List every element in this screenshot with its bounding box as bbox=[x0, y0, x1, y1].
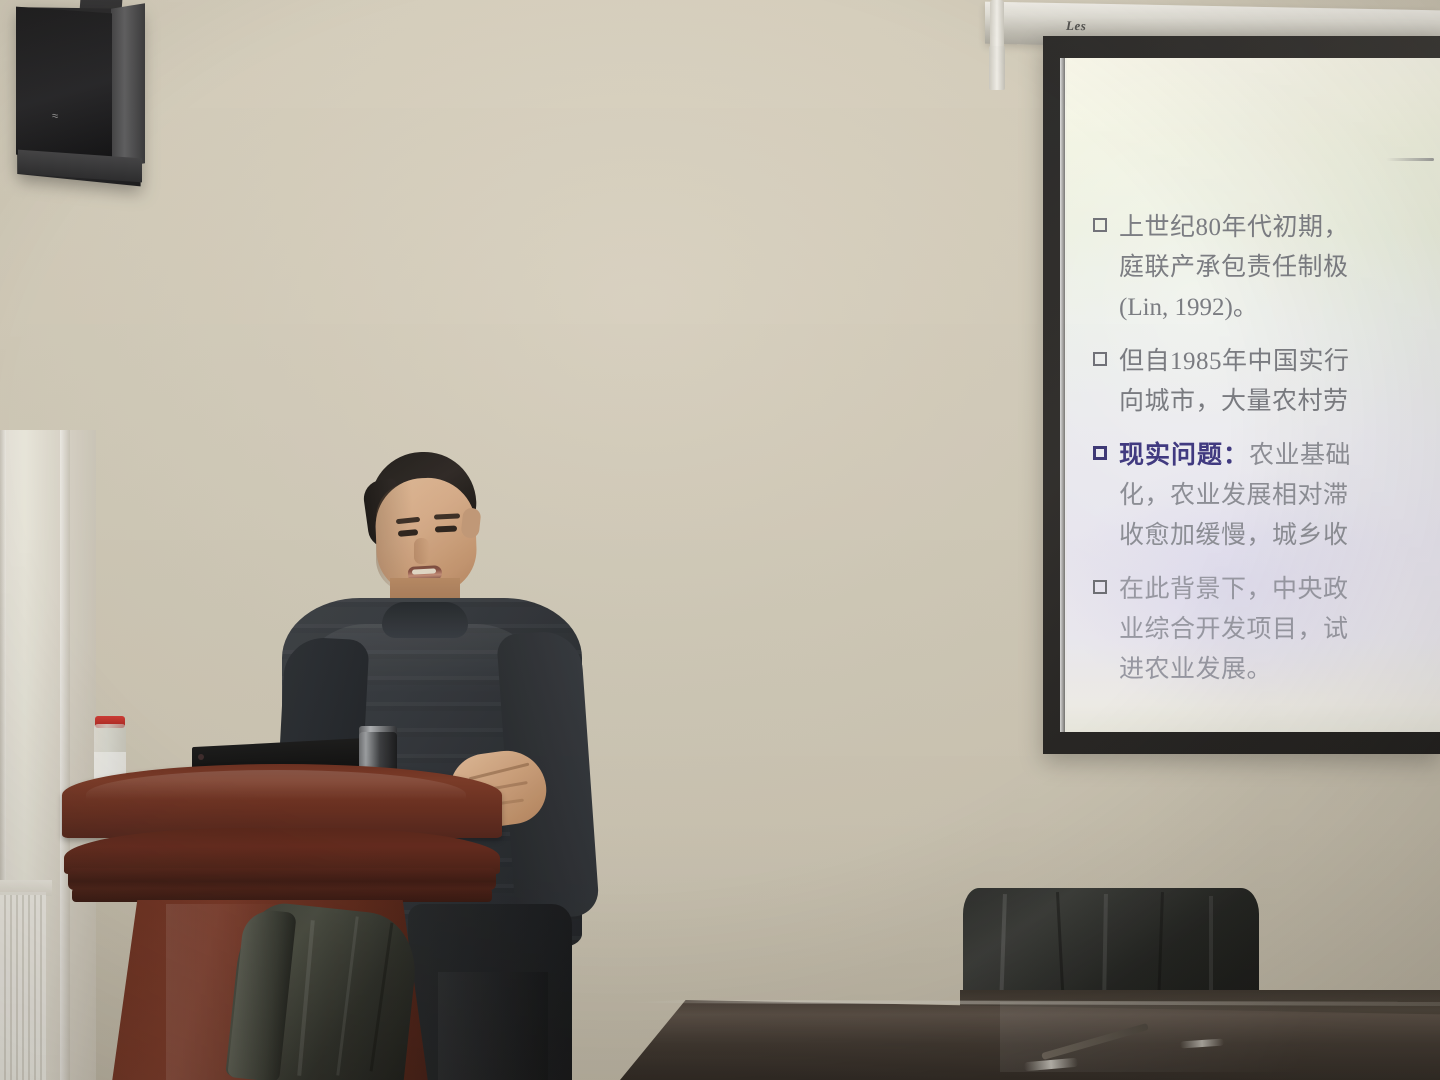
slide-bullet-3-line-1: 现实问题：农业基础 bbox=[1119, 436, 1351, 476]
chair-crease bbox=[1209, 896, 1213, 1002]
bullet-square-icon-accent bbox=[1093, 446, 1107, 460]
slide-bullet-1-text: 上世纪80年代初期， 庭联产承包责任制极 (Lin, 1992)。 bbox=[1119, 208, 1349, 328]
conference-room-scene: ≈ Les 上世纪80年代初期， 庭联产承包责任制极 (Lin, 1992)。 … bbox=[0, 0, 1440, 1080]
slide-bullet-3-rest: 农业基础 bbox=[1249, 442, 1351, 469]
slide-bullet-3-highlight-suffix: ： bbox=[1223, 442, 1249, 469]
slide-content: 上世纪80年代初期， 庭联产承包责任制极 (Lin, 1992)。 但自1985… bbox=[1093, 208, 1440, 704]
slide-bullet-4-line-1: 在此背景下，中央政 bbox=[1119, 570, 1349, 610]
slide-bullet-3-line-3: 收愈加缓慢，城乡收 bbox=[1119, 516, 1351, 556]
presenter-nose bbox=[414, 538, 429, 564]
wall-speaker: ≈ bbox=[14, 0, 164, 190]
screen-brand-mark: Les bbox=[1066, 18, 1086, 34]
wall-radiator bbox=[0, 892, 46, 1080]
slide-bullet-3-line-2: 化，农业发展相对滞 bbox=[1119, 476, 1351, 516]
laptop-hinge-dot bbox=[198, 754, 204, 760]
presenter-collar bbox=[382, 602, 468, 638]
screen-housing-hook-lower bbox=[989, 46, 1005, 90]
projection-screen-left-lip bbox=[1060, 58, 1067, 732]
slide-bullet-1-line-1: 上世纪80年代初期， bbox=[1119, 208, 1349, 248]
speaker-side-panel bbox=[111, 3, 145, 168]
slide-bullet-1: 上世纪80年代初期， 庭联产承包责任制极 (Lin, 1992)。 bbox=[1093, 208, 1440, 328]
slide-bullet-3-highlight: 现实问题 bbox=[1119, 442, 1223, 469]
office-chair-foreground bbox=[228, 896, 428, 1080]
slide-bullet-1-line-2: 庭联产承包责任制极 bbox=[1119, 248, 1349, 288]
slide-bullet-1-line-3: (Lin, 1992)。 bbox=[1119, 288, 1349, 328]
presenter-face-shadow bbox=[376, 482, 412, 592]
slide-bullet-3: 现实问题：农业基础 化，农业发展相对滞 收愈加缓慢，城乡收 bbox=[1093, 436, 1440, 556]
projection-screen-surface: 上世纪80年代初期， 庭联产承包责任制极 (Lin, 1992)。 但自1985… bbox=[1065, 58, 1440, 732]
bullet-square-icon bbox=[1093, 352, 1107, 366]
slide-bullet-4-text: 在此背景下，中央政 业综合开发项目，试 进农业发展。 bbox=[1119, 570, 1349, 690]
slide-bullet-2-line-1: 但自1985年中国实行 bbox=[1119, 342, 1350, 382]
slide-bullet-2-line-2: 向城市，大量农村劳 bbox=[1119, 382, 1350, 422]
slide-bullet-4-line-2: 业综合开发项目，试 bbox=[1119, 610, 1349, 650]
bullet-square-icon bbox=[1093, 218, 1107, 232]
speaker-grille bbox=[16, 7, 112, 162]
slide-bullet-4: 在此背景下，中央政 业综合开发项目，试 进农业发展。 bbox=[1093, 570, 1440, 690]
speaker-logo-icon: ≈ bbox=[52, 111, 74, 124]
presenter-ear bbox=[460, 507, 481, 539]
slide-bullet-3-text: 现实问题：农业基础 化，农业发展相对滞 收愈加缓慢，城乡收 bbox=[1119, 436, 1351, 556]
bullet-square-icon bbox=[1093, 580, 1107, 594]
lectern-moulding-upper bbox=[68, 868, 496, 890]
slide-bullet-4-line-3: 进农业发展。 bbox=[1119, 650, 1349, 690]
slide-divider-line bbox=[1386, 158, 1434, 161]
presenter-eye-right bbox=[435, 525, 457, 532]
slide-bullet-2-text: 但自1985年中国实行 向城市，大量农村劳 bbox=[1119, 342, 1350, 422]
slide-bullet-2: 但自1985年中国实行 向城市，大量农村劳 bbox=[1093, 342, 1440, 422]
